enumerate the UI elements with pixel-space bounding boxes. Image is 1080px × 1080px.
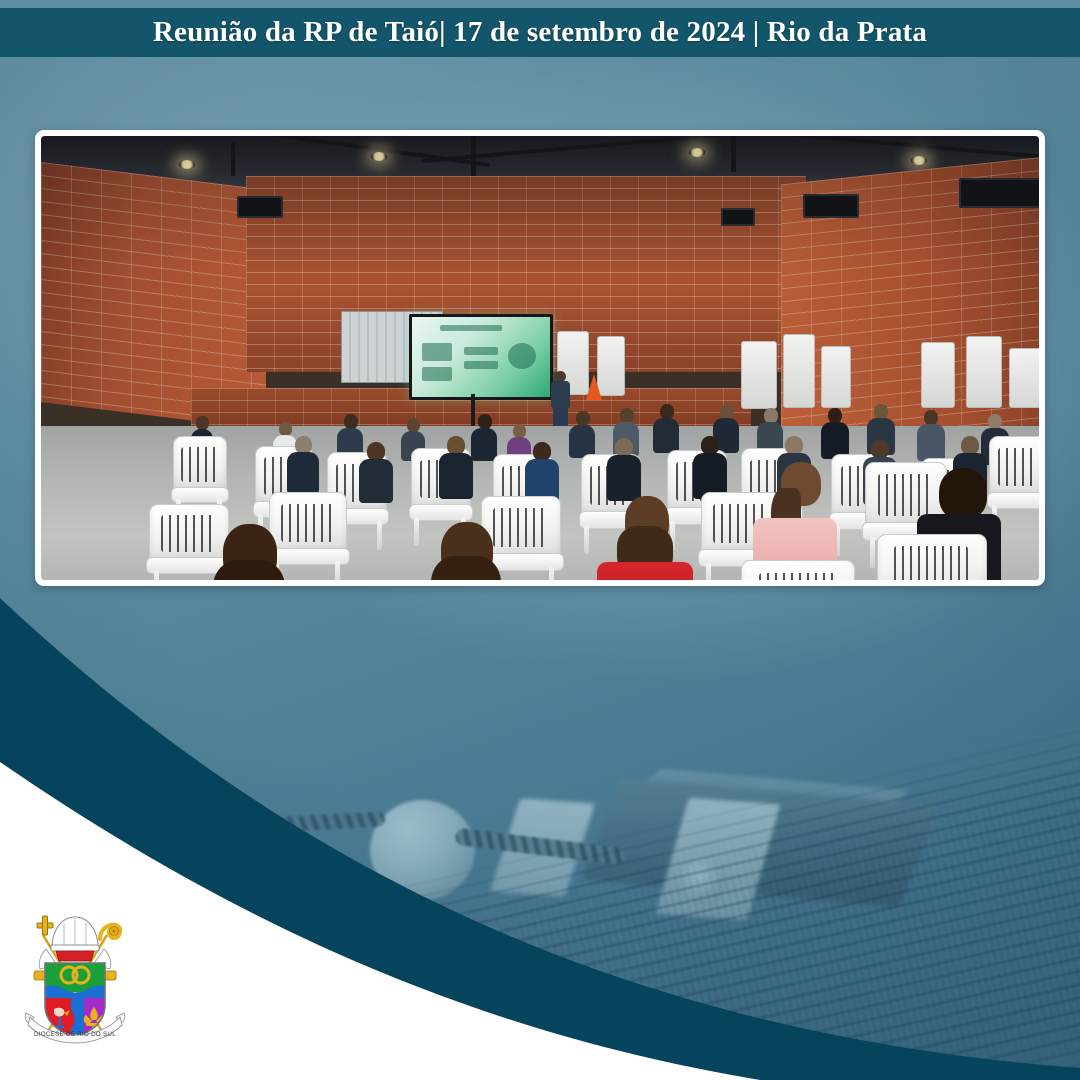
photo-card: Assembleia sentada em cadeiras plásticas… — [35, 130, 1045, 586]
page-title: Reunião da RP de Taió| 17 de setembro de… — [153, 16, 927, 49]
ribbon-text: DIOCESE DE RIO DO SUL — [34, 1031, 116, 1038]
poster-canvas: crucifixo de madeira e terço sobre págin… — [0, 0, 1080, 1080]
coat-of-arms-svg: DIOCESE DE RIO DO SUL — [10, 905, 140, 1050]
photo-shadow-overlay — [41, 136, 1039, 580]
top-accent-strip — [0, 0, 1080, 8]
crosier-icon — [100, 925, 120, 939]
mitre-lining — [56, 951, 94, 961]
diocese-logo[interactable]: DIOCESE DE RIO DO SUL DIOCESE DE RIO DO … — [10, 905, 140, 1050]
cross-icon — [37, 916, 53, 935]
mitre-icon — [51, 917, 99, 951]
event-photo: Assembleia sentada em cadeiras plásticas… — [41, 136, 1039, 580]
header-bar: Reunião da RP de Taió| 17 de setembro de… — [0, 8, 1080, 57]
